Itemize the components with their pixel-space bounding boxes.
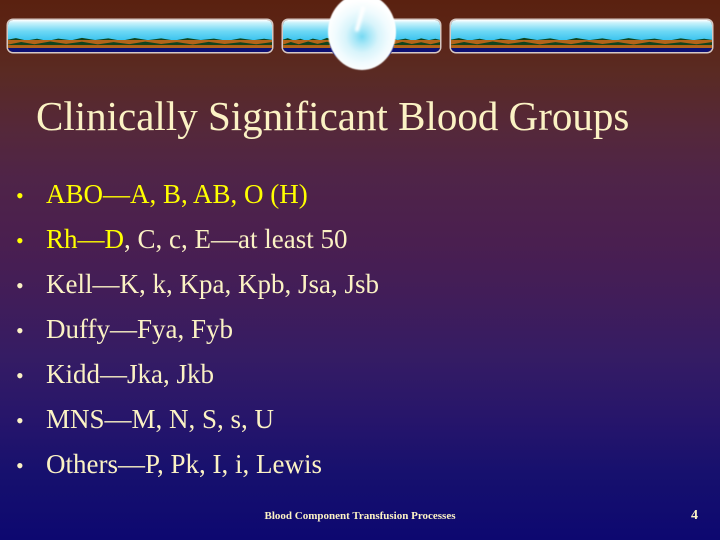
bullet-marker: • — [16, 173, 46, 218]
sky-gradient — [451, 20, 712, 40]
page-title: Clinically Significant Blood Groups — [36, 92, 696, 140]
list-item: • Kell—K, k, Kpa, Kpb, Jsa, Jsb — [16, 262, 706, 307]
list-item: • Duffy—Fya, Fyb — [16, 307, 706, 352]
list-item-highlight: Rh—D — [46, 224, 124, 254]
landscape-panel-left — [8, 20, 272, 52]
bullet-list: • ABO—A, B, AB, O (H) • Rh—D, C, c, E—at… — [16, 172, 706, 487]
list-item-rest: , C, c, E—at least 50 — [124, 224, 347, 254]
bullet-marker: • — [16, 308, 46, 353]
header-banner — [0, 0, 720, 66]
list-item-text: Kell—K, k, Kpa, Kpb, Jsa, Jsb — [46, 262, 379, 307]
sky-gradient — [8, 20, 272, 40]
list-item: • Others—P, Pk, I, i, Lewis — [16, 442, 706, 487]
bullet-marker: • — [16, 263, 46, 308]
list-item-text: Others—P, Pk, I, i, Lewis — [46, 442, 322, 487]
list-item-text: Rh—D, C, c, E—at least 50 — [46, 217, 347, 262]
waterline — [451, 48, 712, 52]
bullet-marker: • — [16, 353, 46, 398]
slide: Clinically Significant Blood Groups • AB… — [0, 0, 720, 540]
slide-footer: Blood Component Transfusion Processes — [0, 510, 720, 522]
bullet-marker: • — [16, 398, 46, 443]
sun-orb-icon — [328, 0, 396, 70]
list-item: • Kidd—Jka, Jkb — [16, 352, 706, 397]
list-item-text: MNS—M, N, S, s, U — [46, 397, 274, 442]
page-number: 4 — [691, 508, 698, 524]
list-item: • MNS—M, N, S, s, U — [16, 397, 706, 442]
waterline — [8, 48, 272, 52]
bullet-marker: • — [16, 443, 46, 488]
list-item: • Rh—D, C, c, E—at least 50 — [16, 217, 706, 262]
landscape-panel-right — [451, 20, 712, 52]
bullet-marker: • — [16, 218, 46, 263]
list-item-text: ABO—A, B, AB, O (H) — [46, 172, 308, 217]
list-item-text: Duffy—Fya, Fyb — [46, 307, 233, 352]
list-item: • ABO—A, B, AB, O (H) — [16, 172, 706, 217]
list-item-text: Kidd—Jka, Jkb — [46, 352, 214, 397]
